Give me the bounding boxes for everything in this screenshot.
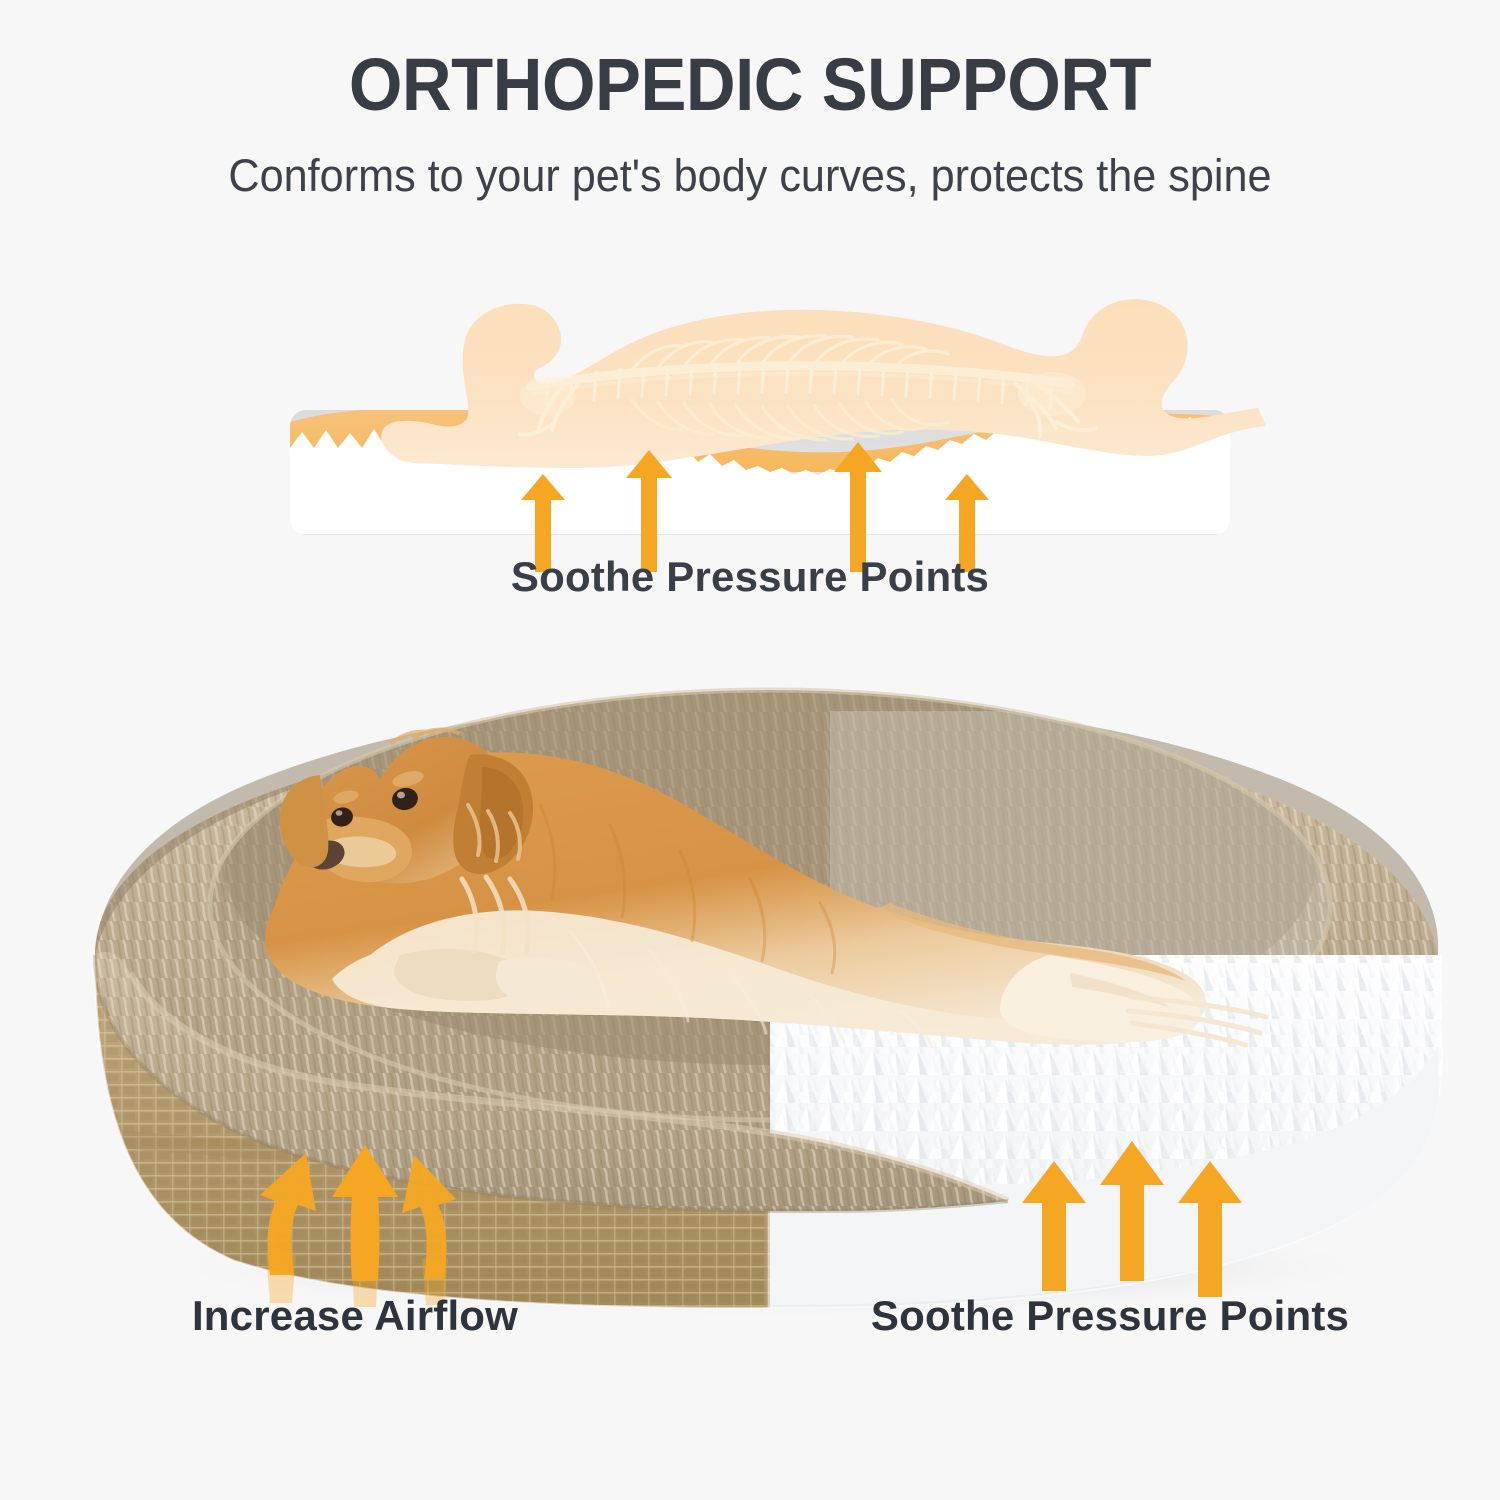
infographic-canvas: ORTHOPEDIC SUPPORT Conforms to your pet'… bbox=[0, 0, 1500, 1500]
callout-label-airflow: Increase Airflow bbox=[95, 1292, 615, 1340]
callout-label-pressure-points: Soothe Pressure Points bbox=[800, 1292, 1420, 1340]
page-subheadline: Conforms to your pet's body curves, prot… bbox=[30, 150, 1470, 202]
page-headline: ORTHOPEDIC SUPPORT bbox=[53, 48, 1448, 122]
airflow-arrows bbox=[260, 1145, 456, 1307]
product-photo-dog-bed bbox=[70, 655, 1450, 1305]
diagram-caption: Soothe Pressure Points bbox=[0, 553, 1500, 601]
pressure-arrows-bottom bbox=[1022, 1141, 1242, 1297]
